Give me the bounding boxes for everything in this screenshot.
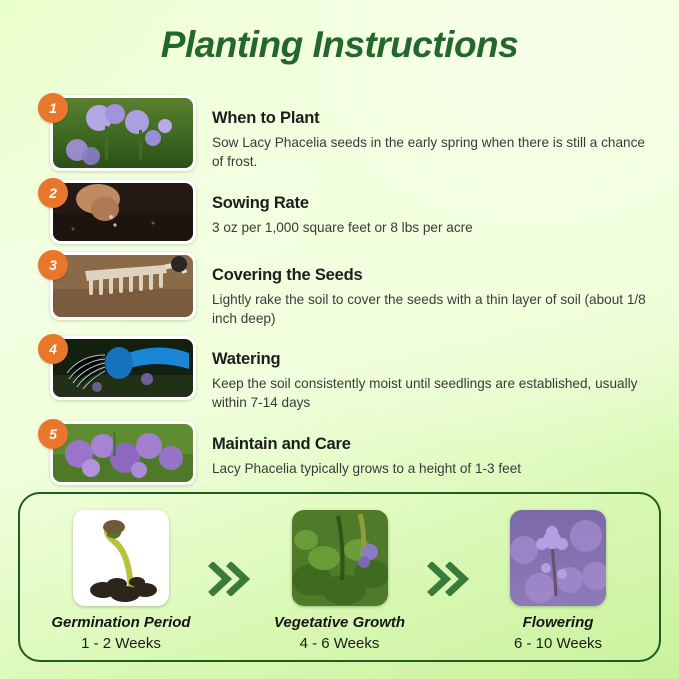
step-description: Lightly rake the soil to cover the seeds… [212, 290, 652, 329]
purple-flower-photo [510, 510, 606, 606]
step-number-badge: 2 [38, 178, 68, 208]
blue-watering-can-image [53, 339, 193, 397]
step-thumbnail-wrap: 2 [38, 180, 190, 244]
timeline-stage-duration: 6 - 10 Weeks [483, 635, 633, 652]
list-item: 3 [38, 252, 658, 329]
double-chevron-right-icon [426, 562, 472, 601]
step-text: Watering Keep the soil consistently mois… [190, 336, 658, 413]
planting-instructions-poster: Planting Instructions 1 [0, 0, 679, 679]
phacelia-blooms-image [53, 424, 193, 482]
double-chevron-right-icon-glyph [207, 562, 253, 596]
step-number-badge: 4 [38, 334, 68, 364]
double-chevron-right-icon-glyph [426, 562, 472, 596]
step-title: When to Plant [212, 109, 658, 128]
step-thumbnail-wrap: 5 [38, 421, 190, 485]
step-text: Sowing Rate 3 oz per 1,000 square feet o… [190, 180, 658, 237]
blue-watering-can-photo [50, 336, 196, 400]
step-description: Lacy Phacelia typically grows to a heigh… [212, 459, 652, 478]
step-title: Sowing Rate [212, 194, 658, 213]
step-description: 3 oz per 1,000 square feet or 8 lbs per … [212, 218, 652, 237]
rake-in-soil-image [53, 255, 193, 317]
rake-in-soil-photo [50, 252, 196, 320]
step-thumbnail-wrap: 3 [38, 252, 190, 320]
timeline-stage: Vegetative Growth 4 - 6 Weeks [265, 510, 415, 652]
step-number-badge: 1 [38, 93, 68, 123]
step-title: Watering [212, 350, 658, 369]
double-chevron-right-icon [207, 562, 253, 601]
hand-sowing-seeds-image [53, 183, 193, 241]
growth-timeline-panel: Germination Period 1 - 2 Weeks [18, 492, 661, 662]
timeline-stage-label: Flowering [483, 614, 633, 631]
timeline-stage-duration: 4 - 6 Weeks [265, 635, 415, 652]
page-title: Planting Instructions [0, 24, 679, 66]
timeline-stage-label: Vegetative Growth [265, 614, 415, 631]
green-foliage-image [292, 510, 388, 606]
phacelia-flowers-photo [50, 95, 196, 171]
list-item: 4 [38, 336, 658, 413]
hand-sowing-seeds-photo [50, 180, 196, 244]
steps-list: 1 [38, 95, 658, 493]
timeline-stage: Germination Period 1 - 2 Weeks [46, 510, 196, 652]
step-description: Sow Lacy Phacelia seeds in the early spr… [212, 133, 652, 172]
timeline-stage-duration: 1 - 2 Weeks [46, 635, 196, 652]
step-number-badge: 3 [38, 250, 68, 280]
step-text: When to Plant Sow Lacy Phacelia seeds in… [190, 95, 658, 172]
step-description: Keep the soil consistently moist until s… [212, 374, 652, 413]
list-item: 2 [38, 180, 658, 244]
timeline-stage: Flowering 6 - 10 Weeks [483, 510, 633, 652]
phacelia-blooms-photo [50, 421, 196, 485]
step-thumbnail-wrap: 4 [38, 336, 190, 400]
step-thumbnail-wrap: 1 [38, 95, 190, 171]
green-foliage-photo [292, 510, 388, 606]
phacelia-flowers-image [53, 98, 193, 168]
step-text: Covering the Seeds Lightly rake the soil… [190, 252, 658, 329]
list-item: 1 [38, 95, 658, 172]
step-number-badge: 5 [38, 419, 68, 449]
sprouting-seedling-image [73, 510, 169, 606]
timeline-stage-label: Germination Period [46, 614, 196, 631]
step-text: Maintain and Care Lacy Phacelia typicall… [190, 421, 658, 478]
step-title: Maintain and Care [212, 435, 658, 454]
list-item: 5 [38, 421, 658, 485]
sprouting-seedling-photo [73, 510, 169, 606]
step-title: Covering the Seeds [212, 266, 658, 285]
purple-flower-image [510, 510, 606, 606]
